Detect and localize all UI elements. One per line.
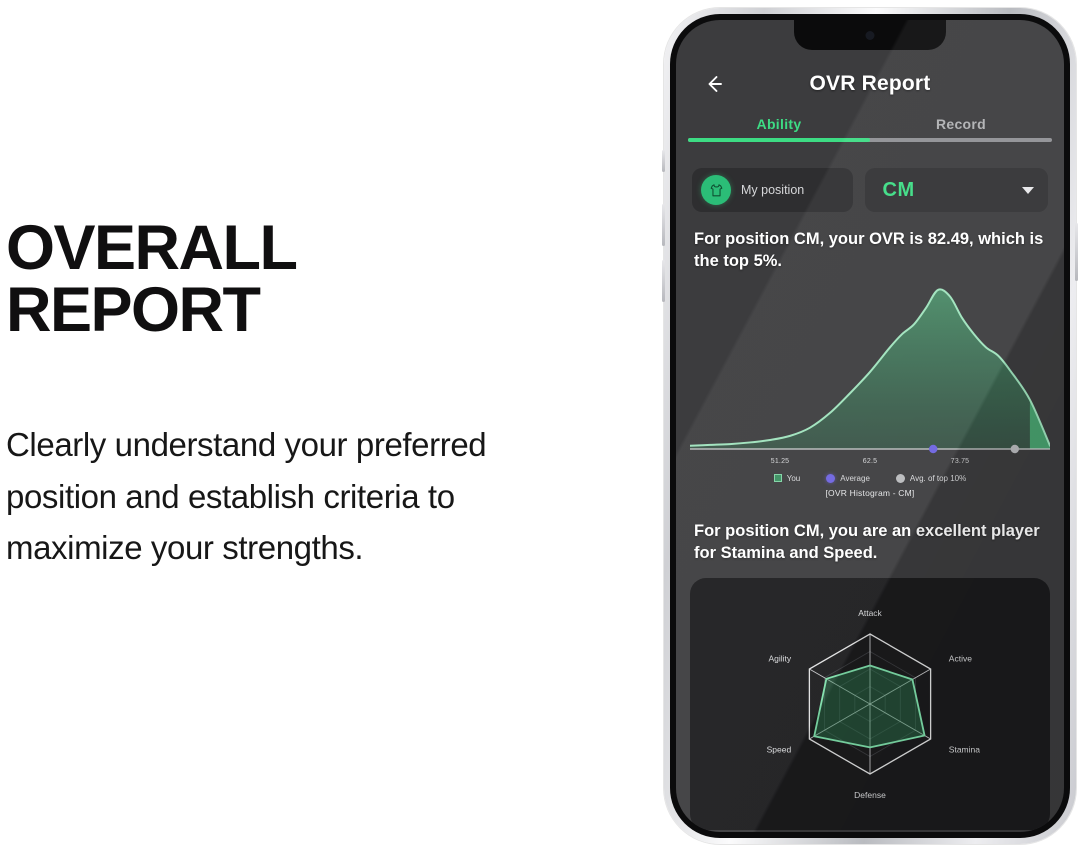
my-position-button[interactable]: My position — [692, 168, 853, 212]
legend-label-average: Average — [840, 474, 870, 483]
legend-item-you: You — [774, 474, 801, 483]
histogram-x-ticks: 51.2562.573.75 — [690, 458, 1050, 470]
power-button[interactable] — [1075, 223, 1078, 281]
marketing-copy: OVERALL REPORT Clearly understand your p… — [6, 218, 636, 573]
mute-switch[interactable] — [662, 150, 665, 172]
ability-radar-card: AttackActiveStaminaDefenseSpeedAgility — [690, 578, 1050, 830]
phone-bezel: OVR Report Ability Record — [670, 14, 1070, 838]
front-camera-icon — [866, 31, 875, 40]
tab-bar: Ability Record — [688, 116, 1052, 150]
radar-axis-label: Agility — [769, 654, 792, 664]
body-line-3: maximize your strengths. — [6, 522, 636, 573]
tab-active-indicator — [688, 138, 870, 142]
position-dropdown-value: CM — [883, 179, 915, 202]
histogram-tick-label: 51.25 — [771, 458, 790, 465]
radar-axis-label: Attack — [858, 608, 882, 618]
app-navbar: OVR Report — [676, 58, 1064, 116]
my-position-label: My position — [741, 183, 804, 197]
ovr-summary-text: For position CM, your OVR is 82.49, whic… — [694, 228, 1046, 273]
histogram-caption: [OVR Histogram - CM] — [690, 488, 1050, 498]
strength-summary-text: For position CM, you are an excellent pl… — [694, 520, 1046, 565]
legend-label-top10: Avg. of top 10% — [910, 474, 966, 483]
notch — [794, 20, 946, 50]
volume-down-button[interactable] — [662, 260, 665, 302]
radar-axis-label: Stamina — [949, 745, 980, 755]
histogram-legend: You Average Avg. of top 10% — [690, 474, 1050, 483]
ovr-histogram: 51.2562.573.75 You Average — [690, 279, 1050, 498]
headline-line-1: OVERALL — [6, 213, 297, 283]
legend-item-average: Average — [826, 474, 870, 483]
radar-series-you — [814, 666, 924, 748]
histogram-plot — [690, 279, 1050, 457]
histogram-tick-label: 62.5 — [863, 458, 877, 465]
legend-label-you: You — [787, 474, 801, 483]
legend-swatch-top10 — [896, 474, 905, 483]
marketing-body: Clearly understand your preferred positi… — [6, 419, 636, 572]
nav-title: OVR Report — [676, 58, 1064, 110]
radar-axis-label: Speed — [767, 745, 792, 755]
volume-up-button[interactable] — [662, 204, 665, 246]
tab-ability[interactable]: Ability — [688, 116, 870, 132]
body-line-1: Clearly understand your preferred — [6, 419, 636, 470]
body-line-2: position and establish criteria to — [6, 471, 636, 522]
position-selector-row: My position CM — [692, 168, 1048, 212]
position-dropdown[interactable]: CM — [865, 168, 1049, 212]
promo-slide: OVERALL REPORT Clearly understand your p… — [0, 0, 1080, 849]
radar-axis-label: Active — [949, 654, 972, 664]
radar-axis-label: Defense — [854, 790, 886, 800]
legend-swatch-you — [774, 474, 782, 482]
legend-swatch-average — [826, 474, 835, 483]
page-title: OVERALL REPORT — [6, 218, 636, 341]
phone-screen: OVR Report Ability Record — [676, 20, 1064, 832]
histogram-marker — [1011, 444, 1019, 452]
tab-track — [688, 138, 1052, 142]
phone-mockup: OVR Report Ability Record — [664, 8, 1076, 844]
headline-line-2: REPORT — [6, 280, 636, 342]
legend-item-top10: Avg. of top 10% — [896, 474, 966, 483]
tab-record[interactable]: Record — [870, 116, 1052, 132]
jersey-icon — [701, 175, 731, 205]
histogram-area — [690, 289, 1050, 449]
ovr-report-app: OVR Report Ability Record — [676, 20, 1064, 832]
chevron-down-icon — [1022, 187, 1034, 194]
histogram-marker — [929, 444, 937, 452]
histogram-tick-label: 73.75 — [951, 458, 970, 465]
ability-radar-chart: AttackActiveStaminaDefenseSpeedAgility — [690, 578, 1050, 830]
back-arrow-icon[interactable] — [702, 72, 726, 96]
